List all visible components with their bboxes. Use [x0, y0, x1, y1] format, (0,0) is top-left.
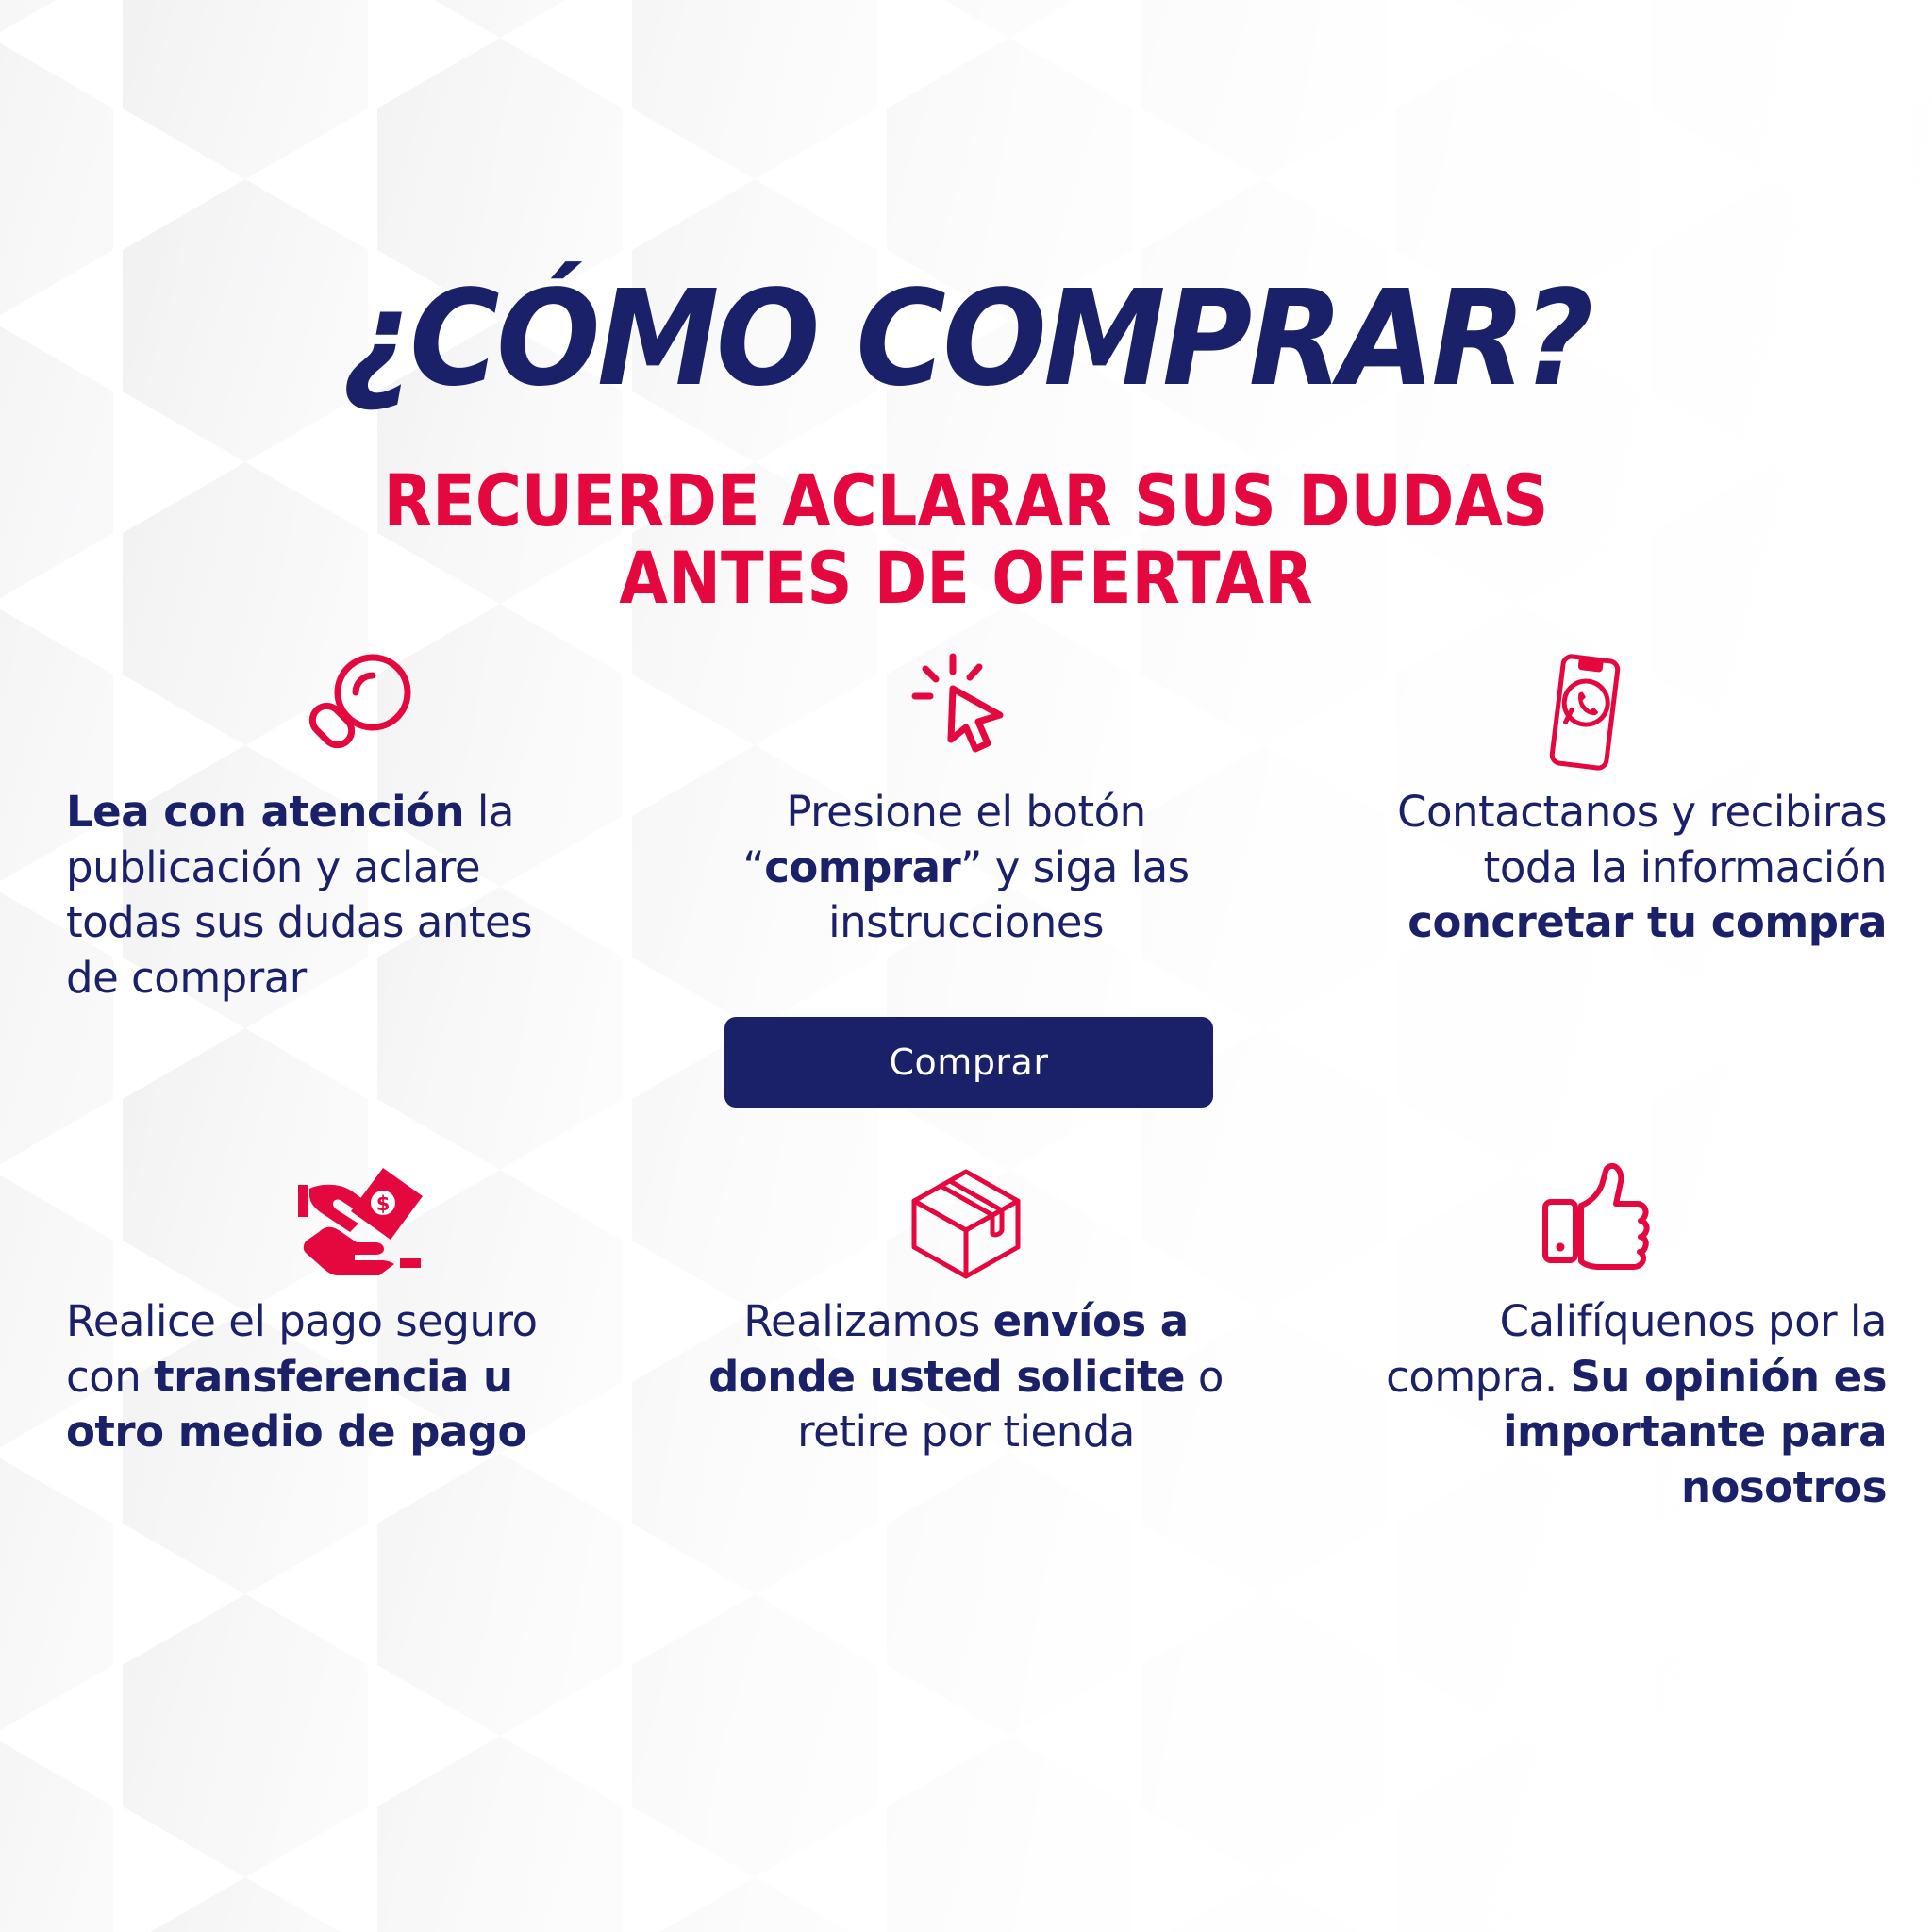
page-subtitle: RECUERDE ACLARAR SUS DUDAS ANTES DE OFER…: [116, 462, 1816, 617]
step-rate-us: Califíquenos por la compra. Su opinión e…: [1321, 1160, 1887, 1515]
magnifier-icon: [66, 651, 594, 772]
subtitle-line-1: RECUERDE ACLARAR SUS DUDAS: [116, 462, 1816, 540]
whatsapp-phone-icon: [1321, 651, 1887, 772]
subtitle-line-2: ANTES DE OFERTAR: [116, 540, 1816, 617]
comprar-button[interactable]: Comprar: [724, 1017, 1213, 1108]
step-shipping-pre: Realizamos: [743, 1296, 992, 1346]
step-read-listing: Lea con atención la publicación y aclare…: [66, 651, 594, 1006]
step-rate-us-text: Califíquenos por la compra. Su opinión e…: [1321, 1294, 1887, 1515]
step-contact-us-bold: concretar tu compra: [1407, 897, 1887, 947]
package-box-icon: [692, 1160, 1240, 1281]
thumbs-up-icon: [1321, 1160, 1887, 1281]
page-title: ¿CÓMO COMPRAR?: [68, 274, 1865, 406]
cursor-click-icon: [692, 651, 1240, 772]
step-read-listing-text: Lea con atención la publicación y aclare…: [66, 785, 594, 1006]
step-contact-us-text: Contactanos y recibiras toda la informac…: [1321, 785, 1887, 951]
step-contact-us: Contactanos y recibiras toda la informac…: [1321, 651, 1887, 951]
step-shipping-text: Realizamos envíos a donde usted solicite…: [692, 1294, 1240, 1460]
step-shipping: Realizamos envíos a donde usted solicite…: [692, 1160, 1240, 1460]
step-press-buy-text: Presione el botón “comprar” y siga las i…: [692, 785, 1240, 951]
step-press-buy-bold: comprar: [764, 842, 960, 892]
step-read-listing-lead: Lea con atención: [66, 787, 464, 837]
step-contact-us-pre: Contactanos y recibiras toda la informac…: [1397, 787, 1887, 892]
svg-text:$: $: [376, 1192, 391, 1215]
infographic-canvas: ¿CÓMO COMPRAR? RECUERDE ACLARAR SUS DUDA…: [0, 0, 1932, 1932]
step-press-buy: Presione el botón “comprar” y siga las i…: [692, 651, 1240, 951]
step-secure-payment: $ Realice el pago seguro con transferenc…: [66, 1160, 594, 1460]
hand-money-icon: $: [66, 1160, 594, 1281]
step-secure-payment-text: Realice el pago seguro con transferencia…: [66, 1294, 594, 1460]
